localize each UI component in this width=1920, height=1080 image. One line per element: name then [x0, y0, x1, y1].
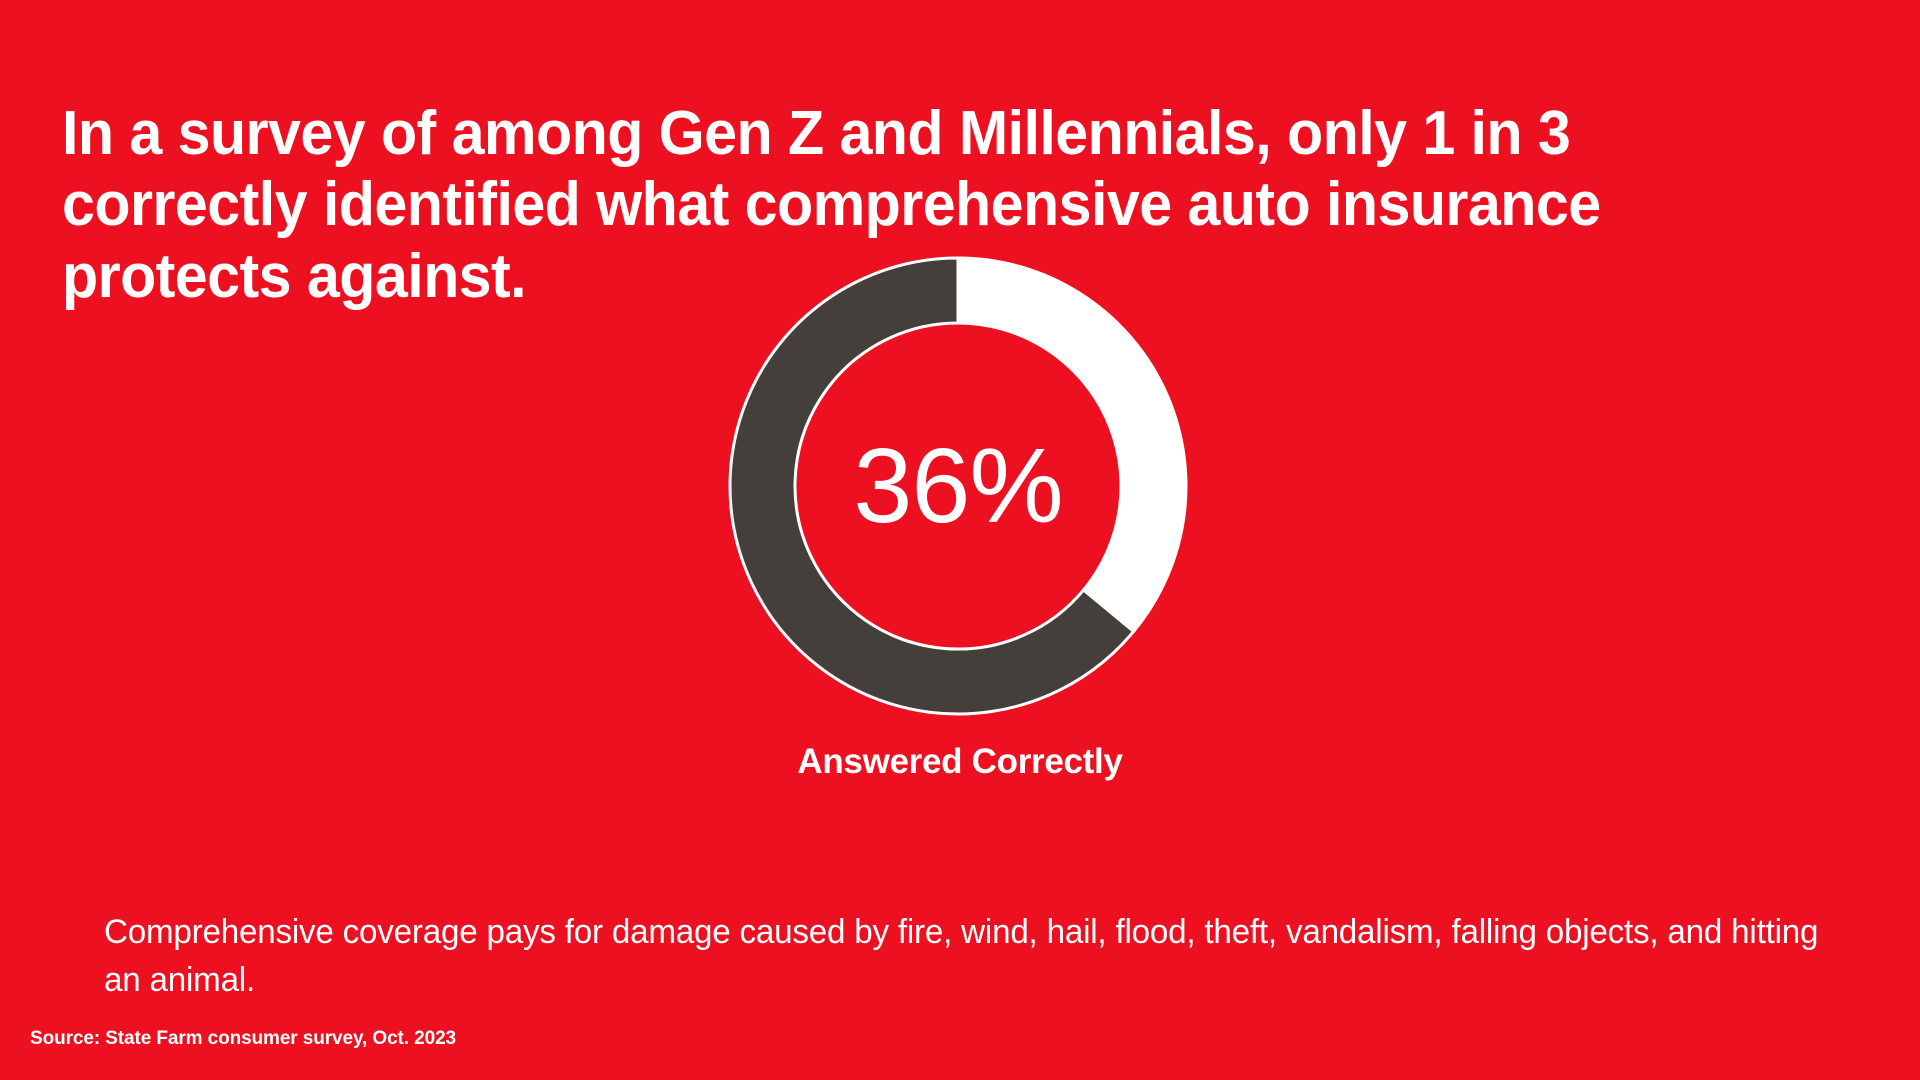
donut-slice-answered-correctly: [958, 258, 1186, 631]
donut-chart-caption: Answered Correctly: [510, 742, 1410, 782]
donut-chart-svg: [718, 246, 1198, 726]
donut-chart: 36%: [718, 246, 1198, 726]
source-attribution: Source: State Farm consumer survey, Oct.…: [30, 1028, 456, 1050]
body-paragraph: Comprehensive coverage pays for damage c…: [104, 909, 1820, 1004]
infographic-canvas: In a survey of among Gen Z and Millennia…: [0, 0, 1920, 1080]
